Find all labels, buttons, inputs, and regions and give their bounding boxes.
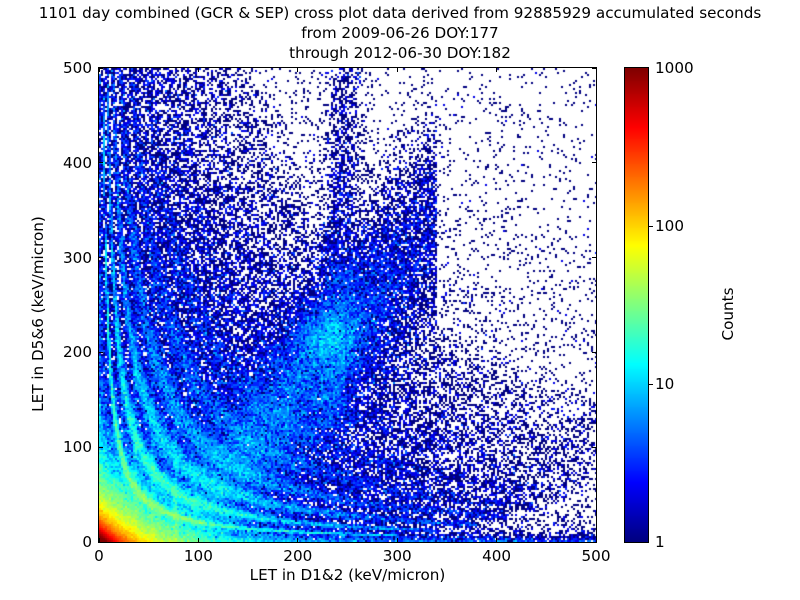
colorbar-gradient [625,68,648,542]
colorbar-tick-label-1: 1 [655,533,665,551]
x-tick-400 [496,68,497,72]
x-tick-300 [397,538,398,542]
y-tick-200 [592,352,596,353]
x-tick-100 [198,68,199,72]
x-tick-200 [297,538,298,542]
y-tick-label-100: 100 [8,438,98,456]
x-tick-label-500: 500 [582,547,611,565]
colorbar-tick-label-10: 10 [655,375,674,393]
x-tick-400 [496,538,497,542]
y-tick-500 [592,68,596,69]
x-tick-0 [99,68,100,72]
density-heatmap [99,68,596,542]
y-tick-label-400: 400 [8,154,98,172]
x-tick-label-300: 300 [383,547,412,565]
y-tick-100 [99,447,103,448]
y-tick-label-300: 300 [8,249,98,267]
x-tick-500 [596,68,597,72]
x-tick-300 [397,68,398,72]
colorbar-tick-label-100: 100 [655,217,684,235]
y-axis-label: LET in D5&6 (keV/micron) [29,214,47,414]
y-tick-200 [99,352,103,353]
colorbar-tick-10 [649,384,653,385]
colorbar[interactable] [624,67,649,543]
x-tick-label-400: 400 [482,547,511,565]
plot-area[interactable] [98,67,597,543]
title-line-2: from 2009-06-26 DOY:177 [0,23,800,43]
x-tick-100 [198,538,199,542]
x-tick-label-100: 100 [184,547,213,565]
colorbar-label: Counts [719,234,737,394]
y-tick-label-200: 200 [8,343,98,361]
y-tick-400 [592,162,596,163]
y-tick-label-500: 500 [8,59,98,77]
x-axis-label: LET in D1&2 (keV/micron) [98,566,597,584]
y-tick-0 [592,542,596,543]
colorbar-tick-label-1000: 1000 [655,59,694,77]
y-tick-100 [592,447,596,448]
y-tick-500 [99,68,103,69]
y-tick-0 [99,542,103,543]
y-tick-300 [592,257,596,258]
chart-title: 1101 day combined (GCR & SEP) cross plot… [0,3,800,63]
y-tick-300 [99,257,103,258]
colorbar-tick-100 [649,226,653,227]
x-tick-200 [297,68,298,72]
y-tick-label-0: 0 [8,533,98,551]
x-tick-label-200: 200 [283,547,312,565]
y-tick-400 [99,162,103,163]
title-line-1: 1101 day combined (GCR & SEP) cross plot… [0,3,800,23]
